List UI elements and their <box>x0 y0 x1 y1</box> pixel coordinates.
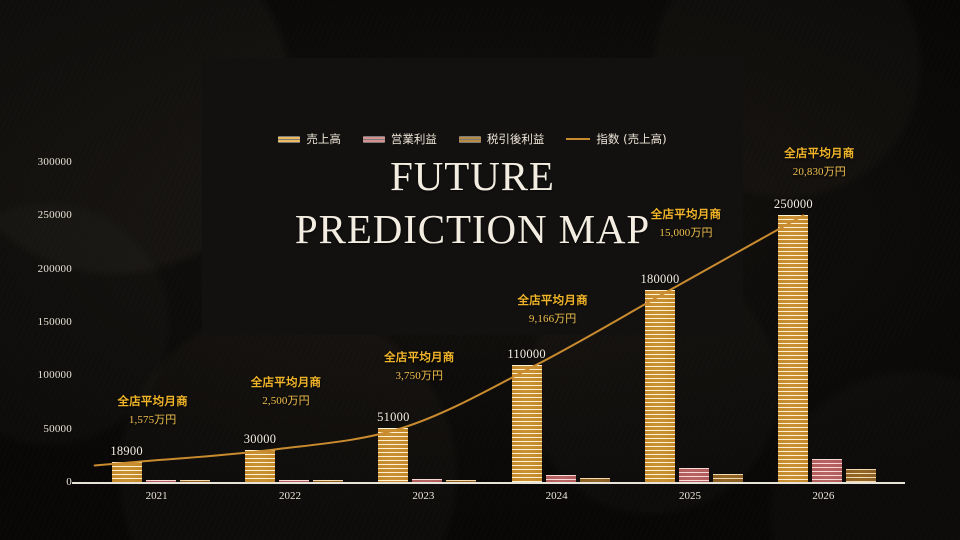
annotation-2022: 全店平均月商2,500万円 <box>251 374 321 408</box>
x-axis-tick-2024: 2024 <box>546 490 568 502</box>
legend-index-line[interactable]: 指数 (売上高) <box>566 131 666 147</box>
legend-line-marker <box>566 138 590 140</box>
annotation-value: 1,575万円 <box>117 411 187 427</box>
legend-label: 売上高 <box>306 131 341 147</box>
legend-label: 税引後利益 <box>487 131 545 147</box>
bar-value-label: 250000 <box>774 197 813 212</box>
bar-2022-sales[interactable]: 30000 <box>245 450 275 482</box>
bar-value-label: 18900 <box>110 444 143 459</box>
annotation-2021: 全店平均月商1,575万円 <box>117 393 187 427</box>
bar-group-2023: 51000 <box>378 62 476 482</box>
legend-operating-profit[interactable]: 営業利益 <box>363 131 437 147</box>
y-axis-tick-label: 300000 <box>38 156 72 168</box>
title-line-1: FUTURE <box>202 150 743 203</box>
bar-2026-sales[interactable]: 250000 <box>778 215 808 482</box>
bar-2025-sales[interactable]: 180000 <box>645 290 675 482</box>
legend-sales[interactable]: 売上高 <box>278 131 341 147</box>
bar-value-label: 110000 <box>507 347 546 362</box>
bar-2023-sales[interactable]: 51000 <box>378 428 408 482</box>
annotation-2024: 全店平均月商9,166万円 <box>517 292 587 326</box>
legend-swatch <box>363 136 385 143</box>
annotation-title: 全店平均月商 <box>784 145 854 161</box>
page-title: FUTURE PREDICTION MAP <box>202 150 743 257</box>
annotation-value: 20,830万円 <box>784 163 854 179</box>
y-axis: 050000100000150000200000250000300000 <box>0 0 72 540</box>
bar-value-label: 51000 <box>377 410 410 425</box>
x-axis-tick-2022: 2022 <box>279 490 301 502</box>
x-axis-tick-2021: 2021 <box>146 490 168 502</box>
bar-group-2025: 180000 <box>645 62 743 482</box>
x-axis-tick-2023: 2023 <box>412 490 434 502</box>
bar-2026-operating-profit[interactable] <box>812 459 842 482</box>
legend-net-profit[interactable]: 税引後利益 <box>459 131 545 147</box>
annotation-title: 全店平均月商 <box>251 374 321 390</box>
bar-2025-operating-profit[interactable] <box>679 468 709 482</box>
bar-value-label: 30000 <box>244 432 277 447</box>
x-axis-line <box>72 482 905 484</box>
y-axis-tick-label: 150000 <box>38 316 72 328</box>
chart-legend: 売上高営業利益税引後利益指数 (売上高) <box>202 131 743 147</box>
annotation-title: 全店平均月商 <box>384 349 454 365</box>
annotation-value: 3,750万円 <box>384 367 454 383</box>
annotation-2026: 全店平均月商20,830万円 <box>784 145 854 179</box>
y-axis-tick-label: 50000 <box>43 423 72 435</box>
annotation-value: 2,500万円 <box>251 392 321 408</box>
bar-2024-sales[interactable]: 110000 <box>512 365 542 482</box>
annotation-title: 全店平均月商 <box>517 292 587 308</box>
bar-2021-sales[interactable]: 18900 <box>112 462 142 482</box>
x-axis-tick-2026: 2026 <box>812 490 834 502</box>
y-axis-tick-label: 200000 <box>38 263 72 275</box>
annotation-title: 全店平均月商 <box>117 393 187 409</box>
annotation-2023: 全店平均月商3,750万円 <box>384 349 454 383</box>
bar-group-2026: 250000 <box>778 62 876 482</box>
legend-swatch <box>459 136 481 143</box>
annotation-value: 9,166万円 <box>517 310 587 326</box>
bar-group-2022: 30000 <box>245 62 343 482</box>
bar-value-label: 180000 <box>641 272 680 287</box>
x-axis-tick-2025: 2025 <box>679 490 701 502</box>
bar-2025-net-profit[interactable] <box>713 474 743 482</box>
y-axis-tick-label: 100000 <box>38 369 72 381</box>
y-axis-tick-label: 250000 <box>38 209 72 221</box>
bar-group-2024: 110000 <box>512 62 610 482</box>
chart-plot-area: 050000100000150000200000250000300000 189… <box>0 0 960 540</box>
legend-swatch <box>278 136 300 143</box>
slide-canvas: 売上高営業利益税引後利益指数 (売上高) FUTURE PREDICTION M… <box>0 0 960 540</box>
title-line-2: PREDICTION MAP <box>202 203 743 256</box>
bar-2026-net-profit[interactable] <box>846 469 876 482</box>
bar-2024-operating-profit[interactable] <box>546 475 576 482</box>
legend-label: 指数 (売上高) <box>596 131 666 147</box>
legend-label: 営業利益 <box>391 131 437 147</box>
